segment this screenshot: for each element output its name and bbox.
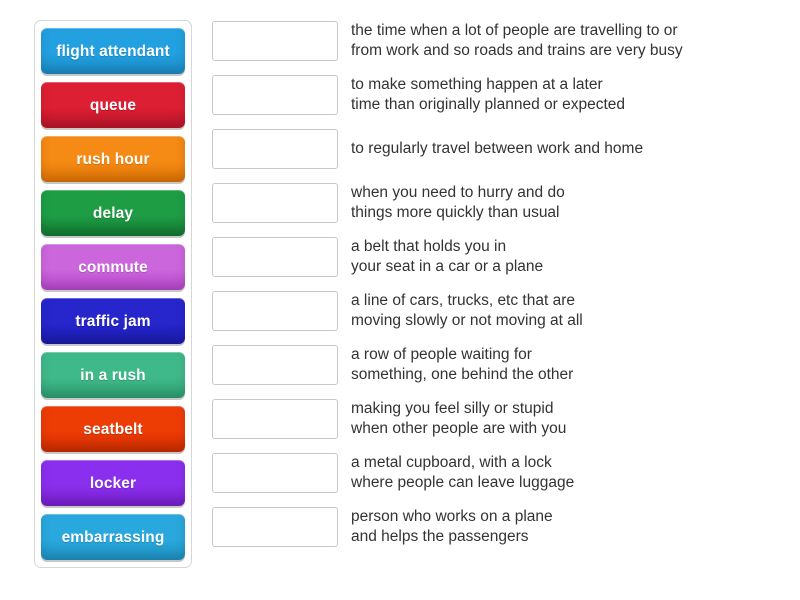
definition-text: a metal cupboard, with a lock where peop… bbox=[351, 453, 574, 494]
match-up-activity: flight attendantqueuerush hourdelaycommu… bbox=[0, 0, 800, 600]
word-tile[interactable]: flight attendant bbox=[41, 28, 185, 74]
definition-text: a row of people waiting for something, o… bbox=[351, 345, 573, 386]
word-tile-label: in a rush bbox=[80, 367, 146, 384]
definition-row: person who works on a plane and helps th… bbox=[212, 507, 683, 547]
definition-row: a line of cars, trucks, etc that are mov… bbox=[212, 291, 683, 331]
word-tile-label: locker bbox=[90, 475, 136, 492]
definition-row: a metal cupboard, with a lock where peop… bbox=[212, 453, 683, 493]
answer-dropzone[interactable] bbox=[212, 129, 338, 169]
definition-text: to make something happen at a later time… bbox=[351, 75, 625, 116]
definition-row: to make something happen at a later time… bbox=[212, 75, 683, 115]
word-tiles-panel: flight attendantqueuerush hourdelaycommu… bbox=[34, 20, 192, 568]
definition-row: when you need to hurry and do things mor… bbox=[212, 183, 683, 223]
answer-dropzone[interactable] bbox=[212, 399, 338, 439]
word-tile-label: queue bbox=[90, 97, 136, 114]
definition-row: a row of people waiting for something, o… bbox=[212, 345, 683, 385]
answer-dropzone[interactable] bbox=[212, 21, 338, 61]
word-tile[interactable]: rush hour bbox=[41, 136, 185, 182]
word-tile[interactable]: commute bbox=[41, 244, 185, 290]
definition-rows: the time when a lot of people are travel… bbox=[212, 21, 683, 547]
answer-dropzone[interactable] bbox=[212, 183, 338, 223]
definition-row: a belt that holds you in your seat in a … bbox=[212, 237, 683, 277]
definition-row: to regularly travel between work and hom… bbox=[212, 129, 683, 169]
word-tile-label: seatbelt bbox=[83, 421, 142, 438]
answer-dropzone[interactable] bbox=[212, 291, 338, 331]
definition-text: a belt that holds you in your seat in a … bbox=[351, 237, 543, 278]
word-tile-label: delay bbox=[93, 205, 133, 222]
definition-text: when you need to hurry and do things mor… bbox=[351, 183, 565, 224]
definition-row: the time when a lot of people are travel… bbox=[212, 21, 683, 61]
word-tile-label: traffic jam bbox=[75, 313, 150, 330]
definition-text: making you feel silly or stupid when oth… bbox=[351, 399, 566, 440]
word-tile[interactable]: locker bbox=[41, 460, 185, 506]
answer-dropzone[interactable] bbox=[212, 453, 338, 493]
answer-dropzone[interactable] bbox=[212, 507, 338, 547]
definition-text: person who works on a plane and helps th… bbox=[351, 507, 553, 548]
word-tile-label: embarrassing bbox=[62, 529, 165, 546]
word-tile-label: commute bbox=[78, 259, 148, 276]
word-tile[interactable]: queue bbox=[41, 82, 185, 128]
word-tile[interactable]: seatbelt bbox=[41, 406, 185, 452]
word-tile[interactable]: traffic jam bbox=[41, 298, 185, 344]
word-tile-label: flight attendant bbox=[56, 43, 170, 60]
answer-dropzone[interactable] bbox=[212, 345, 338, 385]
answer-dropzone[interactable] bbox=[212, 75, 338, 115]
definition-text: a line of cars, trucks, etc that are mov… bbox=[351, 291, 583, 332]
definition-row: making you feel silly or stupid when oth… bbox=[212, 399, 683, 439]
definition-text: to regularly travel between work and hom… bbox=[351, 139, 643, 160]
definition-text: the time when a lot of people are travel… bbox=[351, 21, 683, 62]
word-tile-label: rush hour bbox=[76, 151, 149, 168]
word-tile[interactable]: delay bbox=[41, 190, 185, 236]
word-tile[interactable]: embarrassing bbox=[41, 514, 185, 560]
answer-dropzone[interactable] bbox=[212, 237, 338, 277]
word-tile[interactable]: in a rush bbox=[41, 352, 185, 398]
